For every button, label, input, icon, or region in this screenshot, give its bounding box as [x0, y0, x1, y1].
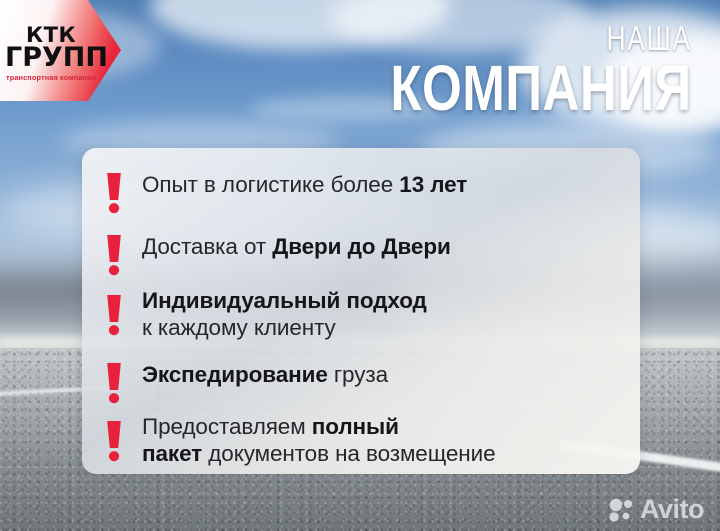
list-item: Предоставляем полный пакет документов на…: [104, 414, 626, 467]
list-item-text: Опыт в логистике более 13 лет: [142, 172, 467, 199]
text-part-bold: полный: [312, 414, 399, 439]
benefits-list: Опыт в логистике более 13 лет Доставка о…: [104, 166, 626, 462]
list-item-text: Предоставляем полный пакет документов на…: [142, 414, 496, 467]
exclamation-mark-icon: [104, 234, 126, 274]
list-item-text: Доставка от Двери до Двери: [142, 234, 451, 261]
list-item-text: Индивидуальный подход к каждому клиенту: [142, 288, 427, 341]
avito-dots-icon: [608, 497, 634, 523]
list-item: Экспедирование груза: [104, 362, 626, 402]
text-part: груза: [328, 362, 388, 387]
text-part-bold: 13 лет: [399, 172, 467, 197]
list-item-text: Экспедирование груза: [142, 362, 388, 389]
title-line-upper: НАША: [398, 22, 692, 56]
exclamation-mark-icon: [104, 172, 126, 212]
text-line-2: пакет документов на возмещение: [142, 441, 496, 468]
text-part: Предоставляем: [142, 414, 312, 439]
benefits-card: Опыт в логистике более 13 лет Доставка о…: [82, 148, 640, 474]
exclamation-mark-icon: [104, 294, 126, 334]
avito-wordmark: Avito: [640, 496, 704, 523]
text-part-bold: Экспедирование: [142, 362, 328, 387]
text-part-bold: Индивидуальный подход: [142, 288, 427, 313]
text-part: к каждому клиенту: [142, 315, 427, 342]
text-part: документов на возмещение: [202, 441, 495, 466]
logo-tagline: транспортная компания: [6, 74, 96, 81]
promo-banner: КТК ГРУПП транспортная компания НАША КОМ…: [0, 0, 720, 531]
text-part-bold: пакет: [142, 441, 202, 466]
text-part: Доставка от: [142, 234, 272, 259]
exclamation-mark-icon: [104, 362, 126, 402]
title-line-lower: КОМПАНИЯ: [391, 58, 692, 119]
list-item: Опыт в логистике более 13 лет: [104, 172, 626, 212]
page-title: НАША КОМПАНИЯ: [315, 22, 692, 119]
text-part-bold: Двери до Двери: [272, 234, 450, 259]
avito-watermark: Avito: [608, 496, 704, 523]
logo-secondary-text: ГРУПП: [5, 44, 108, 71]
list-item: Индивидуальный подход к каждому клиенту: [104, 288, 626, 341]
company-logo: КТК ГРУПП транспортная компания: [0, 0, 122, 101]
list-item: Доставка от Двери до Двери: [104, 234, 626, 274]
exclamation-mark-icon: [104, 420, 126, 460]
text-part: Опыт в логистике более: [142, 172, 399, 197]
